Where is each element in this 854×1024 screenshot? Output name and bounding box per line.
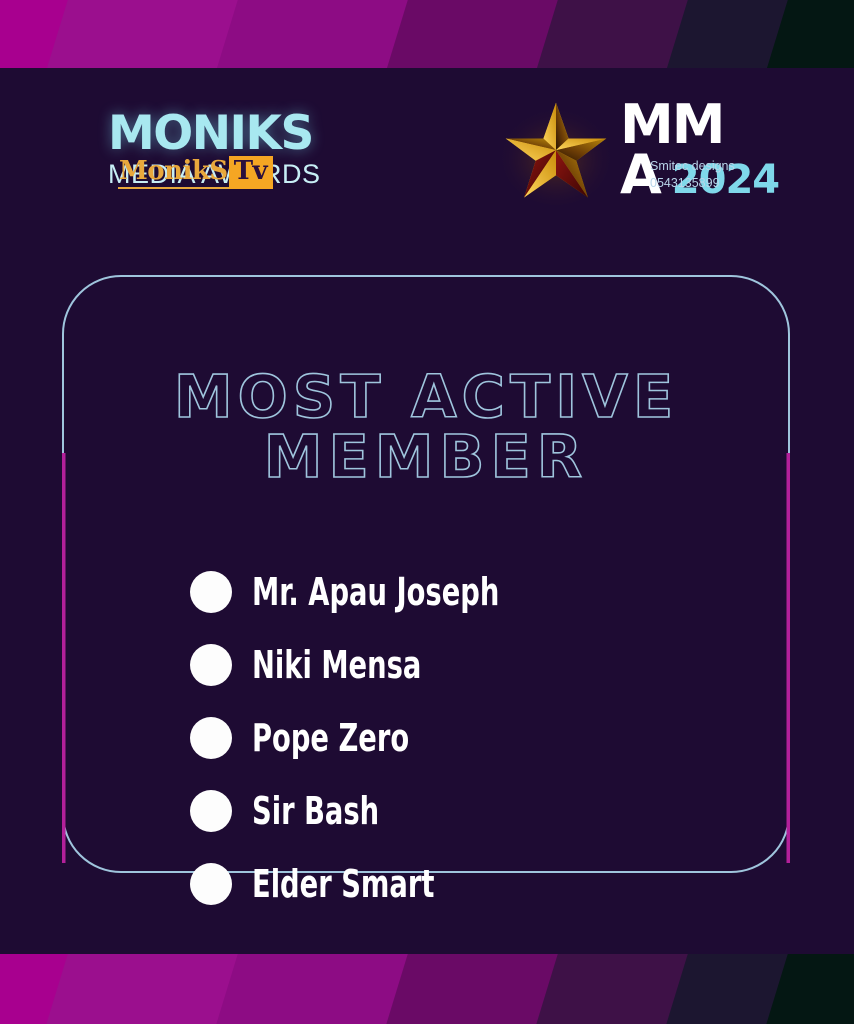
designer-credit: Smitec designs 0543135899 — [650, 158, 735, 191]
award-title-line2: MEMBER — [62, 427, 790, 487]
filled-circle-icon — [190, 571, 232, 613]
nominee-name: Sir Bash — [252, 789, 379, 833]
poster-header: MONIKS MEDIA AWARDS — [0, 68, 854, 238]
moniks-tv-word: MonikS — [118, 156, 229, 189]
credit-phone: 0543135899 — [650, 175, 735, 192]
nominee-row: Mr. Apau Joseph — [190, 555, 750, 628]
nominee-name: Mr. Apau Joseph — [252, 570, 499, 614]
award-card: MOST ACTIVE MEMBER Mr. Apau JosephNiki M… — [62, 275, 790, 873]
top-decorative-band — [0, 0, 854, 68]
event-logo: MM A 2024 — [498, 92, 798, 227]
nominee-name: Niki Mensa — [252, 643, 421, 687]
moniks-tv-box: Tv — [229, 156, 273, 189]
gold-star-icon — [498, 94, 614, 212]
filled-circle-icon — [190, 790, 232, 832]
bottom-decorative-band — [0, 954, 854, 1024]
poster-footer — [0, 886, 854, 954]
filled-circle-icon — [190, 644, 232, 686]
brand-name: MONIKS — [108, 110, 321, 157]
filled-circle-icon — [190, 717, 232, 759]
nominee-row: Sir Bash — [190, 774, 750, 847]
card-content: MOST ACTIVE MEMBER Mr. Apau JosephNiki M… — [62, 275, 790, 873]
award-poster: MONIKS MEDIA AWARDS — [0, 0, 854, 1024]
nominee-row: Pope Zero — [190, 701, 750, 774]
credit-name: Smitec designs — [650, 158, 735, 175]
nominee-name: Pope Zero — [252, 716, 409, 760]
nominee-row: Niki Mensa — [190, 628, 750, 701]
award-title: MOST ACTIVE MEMBER — [62, 367, 790, 487]
moniks-tv-logo: MonikSTv — [118, 156, 273, 189]
award-title-line1: MOST ACTIVE — [62, 367, 790, 427]
nominee-list: Mr. Apau JosephNiki MensaPope ZeroSir Ba… — [190, 555, 750, 920]
poster-stage: MONIKS MEDIA AWARDS — [0, 68, 854, 954]
